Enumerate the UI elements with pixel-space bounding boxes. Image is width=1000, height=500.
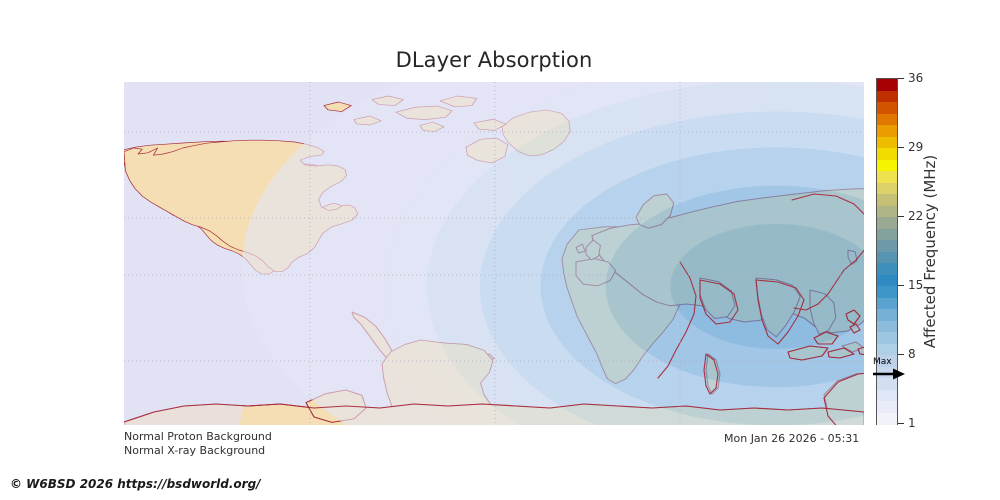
tick-mark — [898, 147, 904, 148]
colorbar-segment — [877, 344, 897, 356]
colorbar-segment — [877, 332, 897, 344]
colorbar-segment — [877, 321, 897, 333]
colorbar-segment — [877, 275, 897, 287]
tick-mark — [898, 423, 904, 424]
figure-canvas: DLayer Absorption — [0, 0, 1000, 500]
colorbar-segment — [877, 355, 897, 367]
tick-label: 1 — [908, 417, 916, 429]
colorbar-segment — [877, 114, 897, 126]
colorbar-segment — [877, 194, 897, 206]
colorbar-segment — [877, 102, 897, 114]
colorbar-segment — [877, 263, 897, 275]
colorbar-segment — [877, 148, 897, 160]
xray-status-text: Normal X-ray Background — [124, 444, 265, 457]
colorbar-segment — [877, 125, 897, 137]
proton-status-text: Normal Proton Background — [124, 430, 272, 443]
colorbar-segment — [877, 183, 897, 195]
colorbar-segment — [877, 240, 897, 252]
tick-mark — [898, 78, 904, 79]
tick-label: 8 — [908, 348, 916, 360]
colorbar-segment — [877, 401, 897, 413]
colorbar-segment — [877, 286, 897, 298]
colorbar-gradient — [876, 78, 898, 425]
colorbar-segment — [877, 390, 897, 402]
copyright-text: © W6BSD 2026 https://bsdworld.org/ — [10, 477, 261, 491]
colorbar[interactable] — [876, 78, 898, 425]
colorbar-segment — [877, 91, 897, 103]
tick-mark — [898, 354, 904, 355]
colorbar-segment — [877, 217, 897, 229]
colorbar-segment — [877, 367, 897, 379]
colorbar-segment — [877, 160, 897, 172]
colorbar-segment — [877, 252, 897, 264]
page-title: DLayer Absorption — [124, 48, 864, 72]
colorbar-segment — [877, 298, 897, 310]
colorbar-segment — [877, 79, 897, 91]
map-axes[interactable] — [124, 82, 864, 425]
colorbar-segment — [877, 137, 897, 149]
colorbar-axis-label: Affected Frequency (MHz) — [921, 78, 943, 425]
colorbar-segment — [877, 171, 897, 183]
colorbar-segment — [877, 378, 897, 390]
world-map — [124, 82, 864, 425]
colorbar-segment — [877, 309, 897, 321]
colorbar-segment — [877, 229, 897, 241]
timestamp-text: Mon Jan 26 2026 - 05:31 — [724, 432, 859, 445]
tick-mark — [898, 285, 904, 286]
tick-mark — [898, 216, 904, 217]
colorbar-segment — [877, 206, 897, 218]
colorbar-segment — [877, 413, 897, 425]
